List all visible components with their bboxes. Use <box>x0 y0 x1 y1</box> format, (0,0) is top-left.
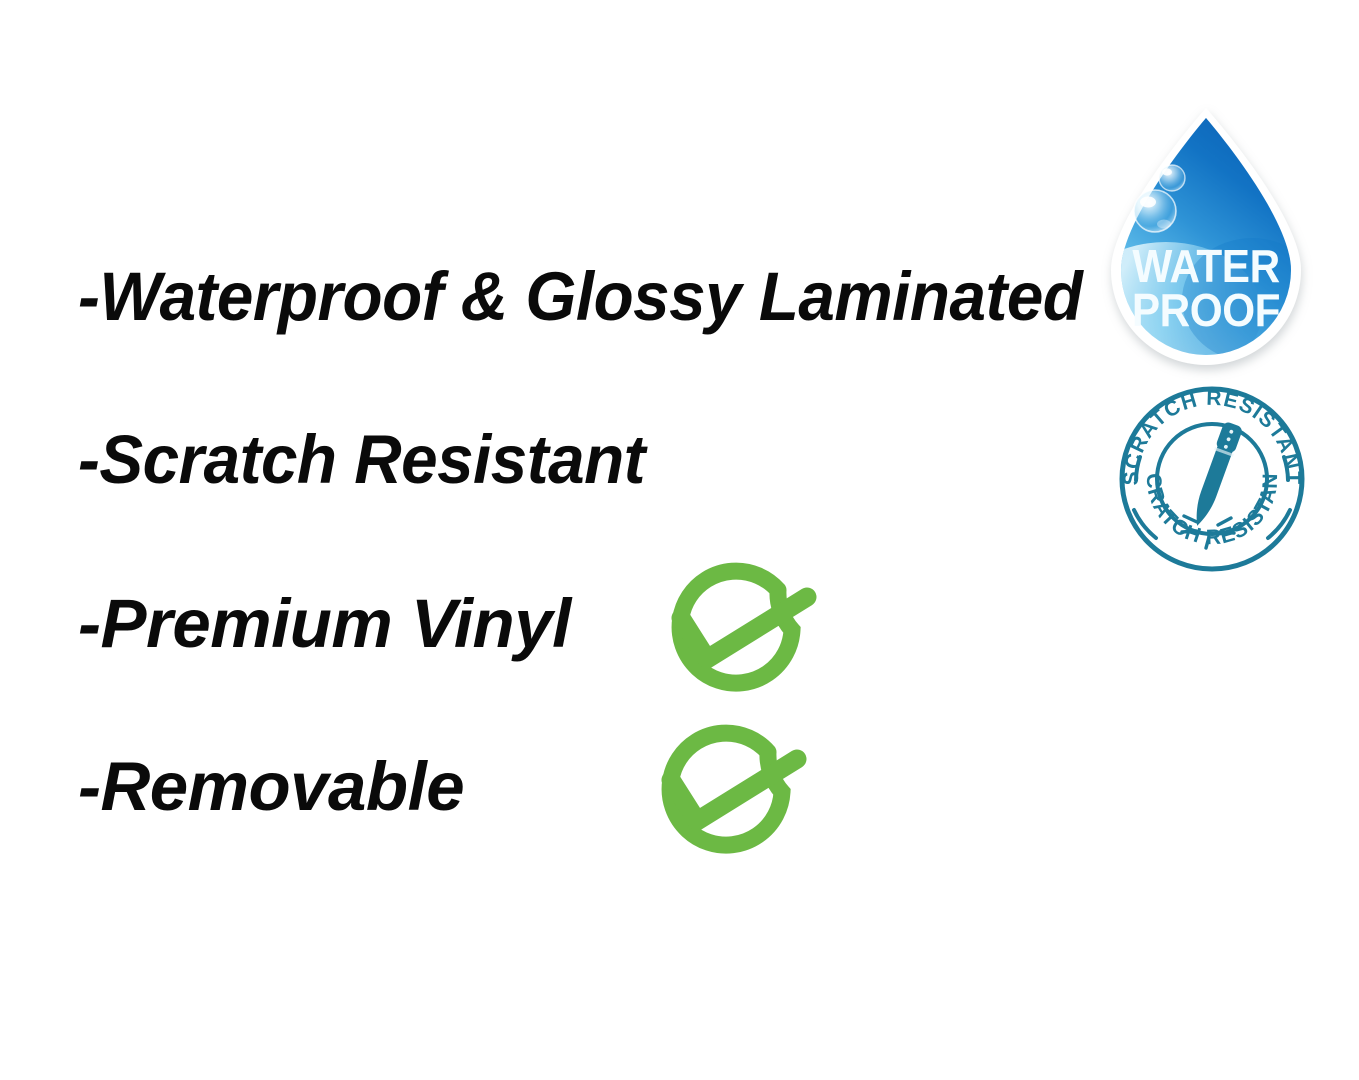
waterproof-badge: WATER PROOF <box>1102 104 1310 366</box>
water-drop-icon: WATER PROOF <box>1102 104 1310 366</box>
poster-canvas: -Waterproof & Glossy Laminated -Scratch … <box>0 0 1359 1080</box>
waterproof-label-line2: PROOF <box>1132 285 1280 336</box>
water-bubble-small-icon <box>1159 165 1185 191</box>
checkmark-premium-vinyl <box>644 556 830 706</box>
checkmark-removable <box>634 718 820 868</box>
feature-premium-vinyl: -Premium Vinyl <box>78 589 571 658</box>
scratch-resistant-badge: SCRATCH RESISTANT SCRATCH RESISTANT <box>1114 382 1310 572</box>
circle-check-icon <box>634 718 820 868</box>
water-bubble-large-icon <box>1134 190 1176 232</box>
circle-check-icon <box>644 556 830 706</box>
knife-stamp-icon: SCRATCH RESISTANT SCRATCH RESISTANT <box>1114 382 1310 572</box>
feature-scratch-resistant: -Scratch Resistant <box>78 425 645 494</box>
feature-removable: -Removable <box>78 752 464 821</box>
knife-icon <box>1188 421 1244 529</box>
feature-waterproof-glossy-laminated: -Waterproof & Glossy Laminated <box>78 262 1082 331</box>
